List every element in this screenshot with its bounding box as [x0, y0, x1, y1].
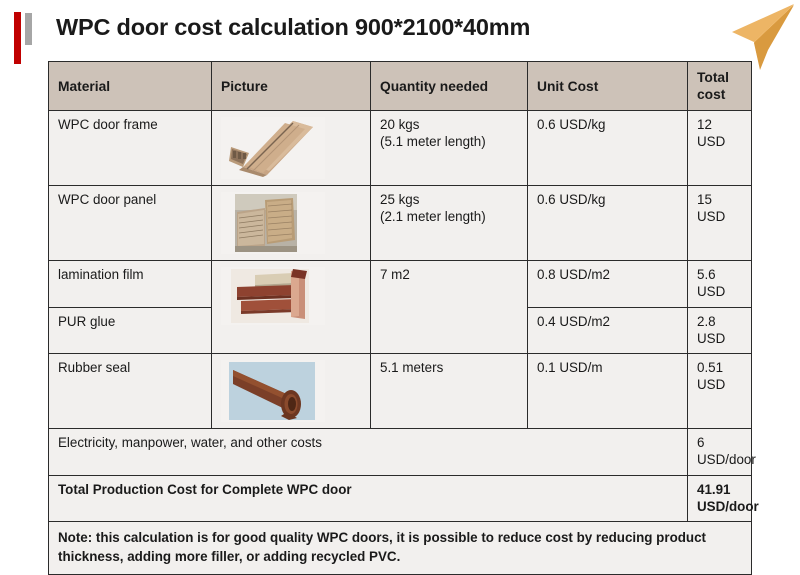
total-production-value: 41.91 USD/door — [688, 475, 752, 522]
quantity-primary: 25 kgs — [380, 192, 419, 207]
table-row-other-costs: Electricity, manpower, water, and other … — [49, 429, 752, 476]
cell-total-cost: 5.6 USD — [688, 261, 752, 308]
cell-picture — [212, 261, 371, 354]
column-header-total-cost: Total cost — [688, 62, 752, 111]
note-text: Note: this calculation is for good quali… — [49, 522, 752, 574]
cell-total-cost: 2.8 USD — [688, 307, 752, 354]
quantity-primary: 20 kgs — [380, 117, 419, 132]
table-row-total: Total Production Cost for Complete WPC d… — [49, 475, 752, 522]
cell-quantity: 5.1 meters — [371, 354, 528, 429]
accent-bar-gray — [25, 13, 32, 45]
other-costs-value: 6 USD/door — [688, 429, 752, 476]
cell-total-cost: 15 USD — [688, 186, 752, 261]
cell-quantity: 20 kgs (5.1 meter length) — [371, 111, 528, 186]
cell-unit-cost: 0.8 USD/m2 — [528, 261, 688, 308]
table-row-note: Note: this calculation is for good quali… — [49, 522, 752, 574]
table-row: Rubber seal — [49, 354, 752, 429]
lamination-film-photo — [221, 267, 325, 325]
other-costs-label: Electricity, manpower, water, and other … — [49, 429, 688, 476]
quantity-secondary: (2.1 meter length) — [380, 209, 518, 226]
cell-total-cost: 0.51 USD — [688, 354, 752, 429]
cell-material: lamination film — [49, 261, 212, 308]
cell-material: WPC door frame — [49, 111, 212, 186]
cell-unit-cost: 0.4 USD/m2 — [528, 307, 688, 354]
page-title: WPC door cost calculation 900*2100*40mm — [56, 14, 530, 41]
table-row: WPC door frame — [49, 111, 752, 186]
total-production-label: Total Production Cost for Complete WPC d… — [49, 475, 688, 522]
cell-picture — [212, 354, 371, 429]
column-header-unit-cost: Unit Cost — [528, 62, 688, 111]
wpc-door-panel-photo — [221, 192, 325, 254]
cell-picture — [212, 111, 371, 186]
cell-unit-cost: 0.6 USD/kg — [528, 186, 688, 261]
rubber-seal-photo — [221, 360, 325, 422]
cell-material: Rubber seal — [49, 354, 212, 429]
column-header-quantity: Quantity needed — [371, 62, 528, 111]
column-header-material: Material — [49, 62, 212, 111]
cell-material: PUR glue — [49, 307, 212, 354]
cell-picture — [212, 186, 371, 261]
cell-quantity: 7 m2 — [371, 261, 528, 354]
title-accent-bars — [14, 12, 36, 64]
wpc-cost-table: Material Picture Quantity needed Unit Co… — [48, 61, 752, 575]
cell-unit-cost: 0.6 USD/kg — [528, 111, 688, 186]
cell-material: WPC door panel — [49, 186, 212, 261]
table-header-row: Material Picture Quantity needed Unit Co… — [49, 62, 752, 111]
accent-bar-red — [14, 12, 21, 64]
cell-total-cost: 12 USD — [688, 111, 752, 186]
column-header-picture: Picture — [212, 62, 371, 111]
paper-plane-icon — [724, 2, 796, 70]
quantity-secondary: (5.1 meter length) — [380, 134, 518, 151]
table-row: WPC door panel — [49, 186, 752, 261]
cell-unit-cost: 0.1 USD/m — [528, 354, 688, 429]
table-row: lamination film — [49, 261, 752, 308]
cell-quantity: 25 kgs (2.1 meter length) — [371, 186, 528, 261]
wpc-door-frame-photo — [221, 117, 325, 179]
cost-table-container: Material Picture Quantity needed Unit Co… — [48, 61, 752, 575]
